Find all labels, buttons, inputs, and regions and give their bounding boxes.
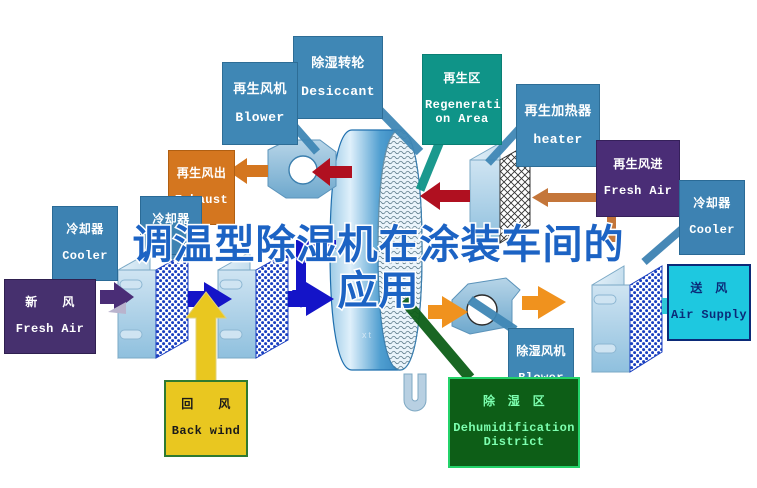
label-cooler-left-2: 冷却器 — [140, 196, 202, 255]
blower-out-arrow — [522, 286, 566, 319]
label-fresh-air-in: 新 风 Fresh Air — [4, 279, 96, 354]
label-regen-heater-cn: 再生加热器 — [519, 104, 597, 119]
regen-hot-arrow — [420, 182, 470, 210]
label-regen-fresh-air-en: Fresh Air — [599, 185, 677, 198]
diagram-canvas: xt 除湿转轮 Desiccant 再生风机 Blower 再生风出 Exhau… — [0, 0, 757, 488]
label-air-supply-en: Air Supply — [671, 309, 747, 322]
label-fresh-air-in-en: Fresh Air — [7, 323, 93, 336]
label-cooler-left-1: 冷却器 Cooler — [52, 206, 118, 281]
cool2-arrow — [288, 282, 334, 316]
label-back-wind-cn: 回 风 — [168, 398, 244, 411]
label-regen-fresh-air: 再生风进 Fresh Air — [596, 140, 680, 217]
cooler-coil-3 — [592, 266, 662, 372]
label-regen-fresh-air-cn: 再生风进 — [599, 158, 677, 171]
label-cooler-right-cn: 冷却器 — [682, 197, 742, 210]
label-regen-heater-en: heater — [519, 133, 597, 148]
label-back-wind-en: Back wind — [168, 425, 244, 438]
label-air-supply: 送 风 Air Supply — [667, 264, 751, 341]
label-regen-blower-en: Blower — [225, 111, 295, 126]
label-regen-area-en: Regenerati on Area — [425, 99, 499, 126]
label-desiccant-rotor: 除湿转轮 Desiccant — [293, 36, 383, 119]
label-cooler-right: 冷却器 Cooler — [679, 180, 745, 255]
label-dehum-blower-cn: 除湿风机 — [511, 345, 571, 358]
watermark-text: xt — [362, 330, 373, 340]
label-dehum-district-cn: 除 湿 区 — [452, 395, 576, 408]
label-regen-blower-cn: 再生风机 — [225, 82, 295, 97]
label-back-wind: 回 风 Back wind — [164, 380, 248, 457]
cooler-coil-2 — [218, 252, 288, 358]
label-cooler-left-2-cn: 冷却器 — [143, 213, 199, 226]
label-air-supply-cn: 送 风 — [671, 282, 747, 295]
label-dehum-district: 除 湿 区 Dehumidification District — [448, 377, 580, 468]
label-regen-exhaust-cn: 再生风出 — [171, 167, 232, 180]
label-desiccant-rotor-cn: 除湿转轮 — [296, 56, 380, 71]
label-fresh-air-in-cn: 新 风 — [7, 296, 93, 309]
label-regen-area-cn: 再生区 — [425, 72, 499, 85]
label-regen-area: 再生区 Regenerati on Area — [422, 54, 502, 145]
label-cooler-right-en: Cooler — [682, 224, 742, 237]
label-regen-heater: 再生加热器 heater — [516, 84, 600, 167]
label-dehum-district-en: Dehumidification District — [452, 422, 576, 449]
label-cooler-left-1-cn: 冷却器 — [55, 223, 115, 236]
label-desiccant-rotor-en: Desiccant — [296, 85, 380, 100]
label-regen-blower: 再生风机 Blower — [222, 62, 298, 145]
drain-pan — [404, 374, 426, 411]
label-cooler-left-1-en: Cooler — [55, 250, 115, 263]
cooler-coil-1 — [118, 252, 188, 358]
